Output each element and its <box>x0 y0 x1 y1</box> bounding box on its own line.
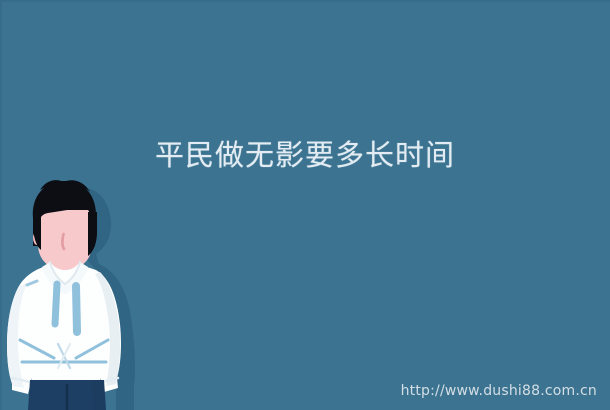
image-canvas: 平民做无影要多长时间 http://www.dushi88.com.cn <box>0 0 610 410</box>
face <box>38 210 92 270</box>
drawstring-left <box>55 284 57 324</box>
pants-shade-right <box>92 380 106 410</box>
illustration-young-man <box>0 172 160 410</box>
drawstring-right <box>76 286 77 332</box>
page-title: 平民做无影要多长时间 <box>0 136 610 174</box>
watermark-url: http://www.dushi88.com.cn <box>401 382 597 400</box>
